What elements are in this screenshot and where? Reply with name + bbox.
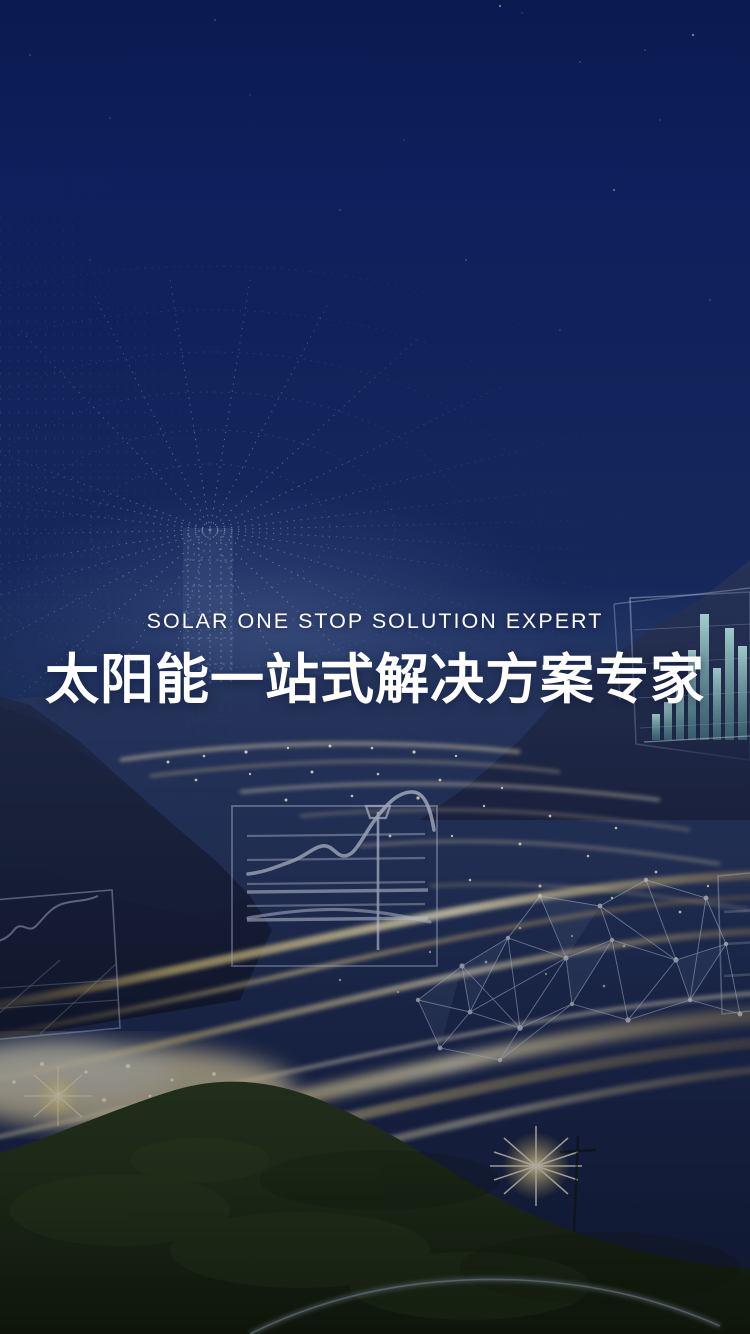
- banner-headline: 太阳能一站式解决方案专家: [0, 650, 750, 710]
- banner-copy: SOLAR ONE STOP SOLUTION EXPERT 太阳能一站式解决方…: [0, 606, 750, 710]
- left-line-chart-overlay: [0, 890, 120, 1042]
- line-chart-overlay: [232, 792, 437, 966]
- banner-eyebrow: SOLAR ONE STOP SOLUTION EXPERT: [0, 606, 750, 636]
- hero-banner: SOLAR ONE STOP SOLUTION EXPERT 太阳能一站式解决方…: [0, 0, 750, 1334]
- lens-flare-icon: [490, 1126, 582, 1206]
- network-mesh-overlay: [416, 878, 743, 1062]
- right-edge-panel-overlay: [718, 872, 750, 1014]
- lens-flare-small-icon: [24, 1066, 92, 1126]
- halftone-dot-grid: [0, 0, 520, 630]
